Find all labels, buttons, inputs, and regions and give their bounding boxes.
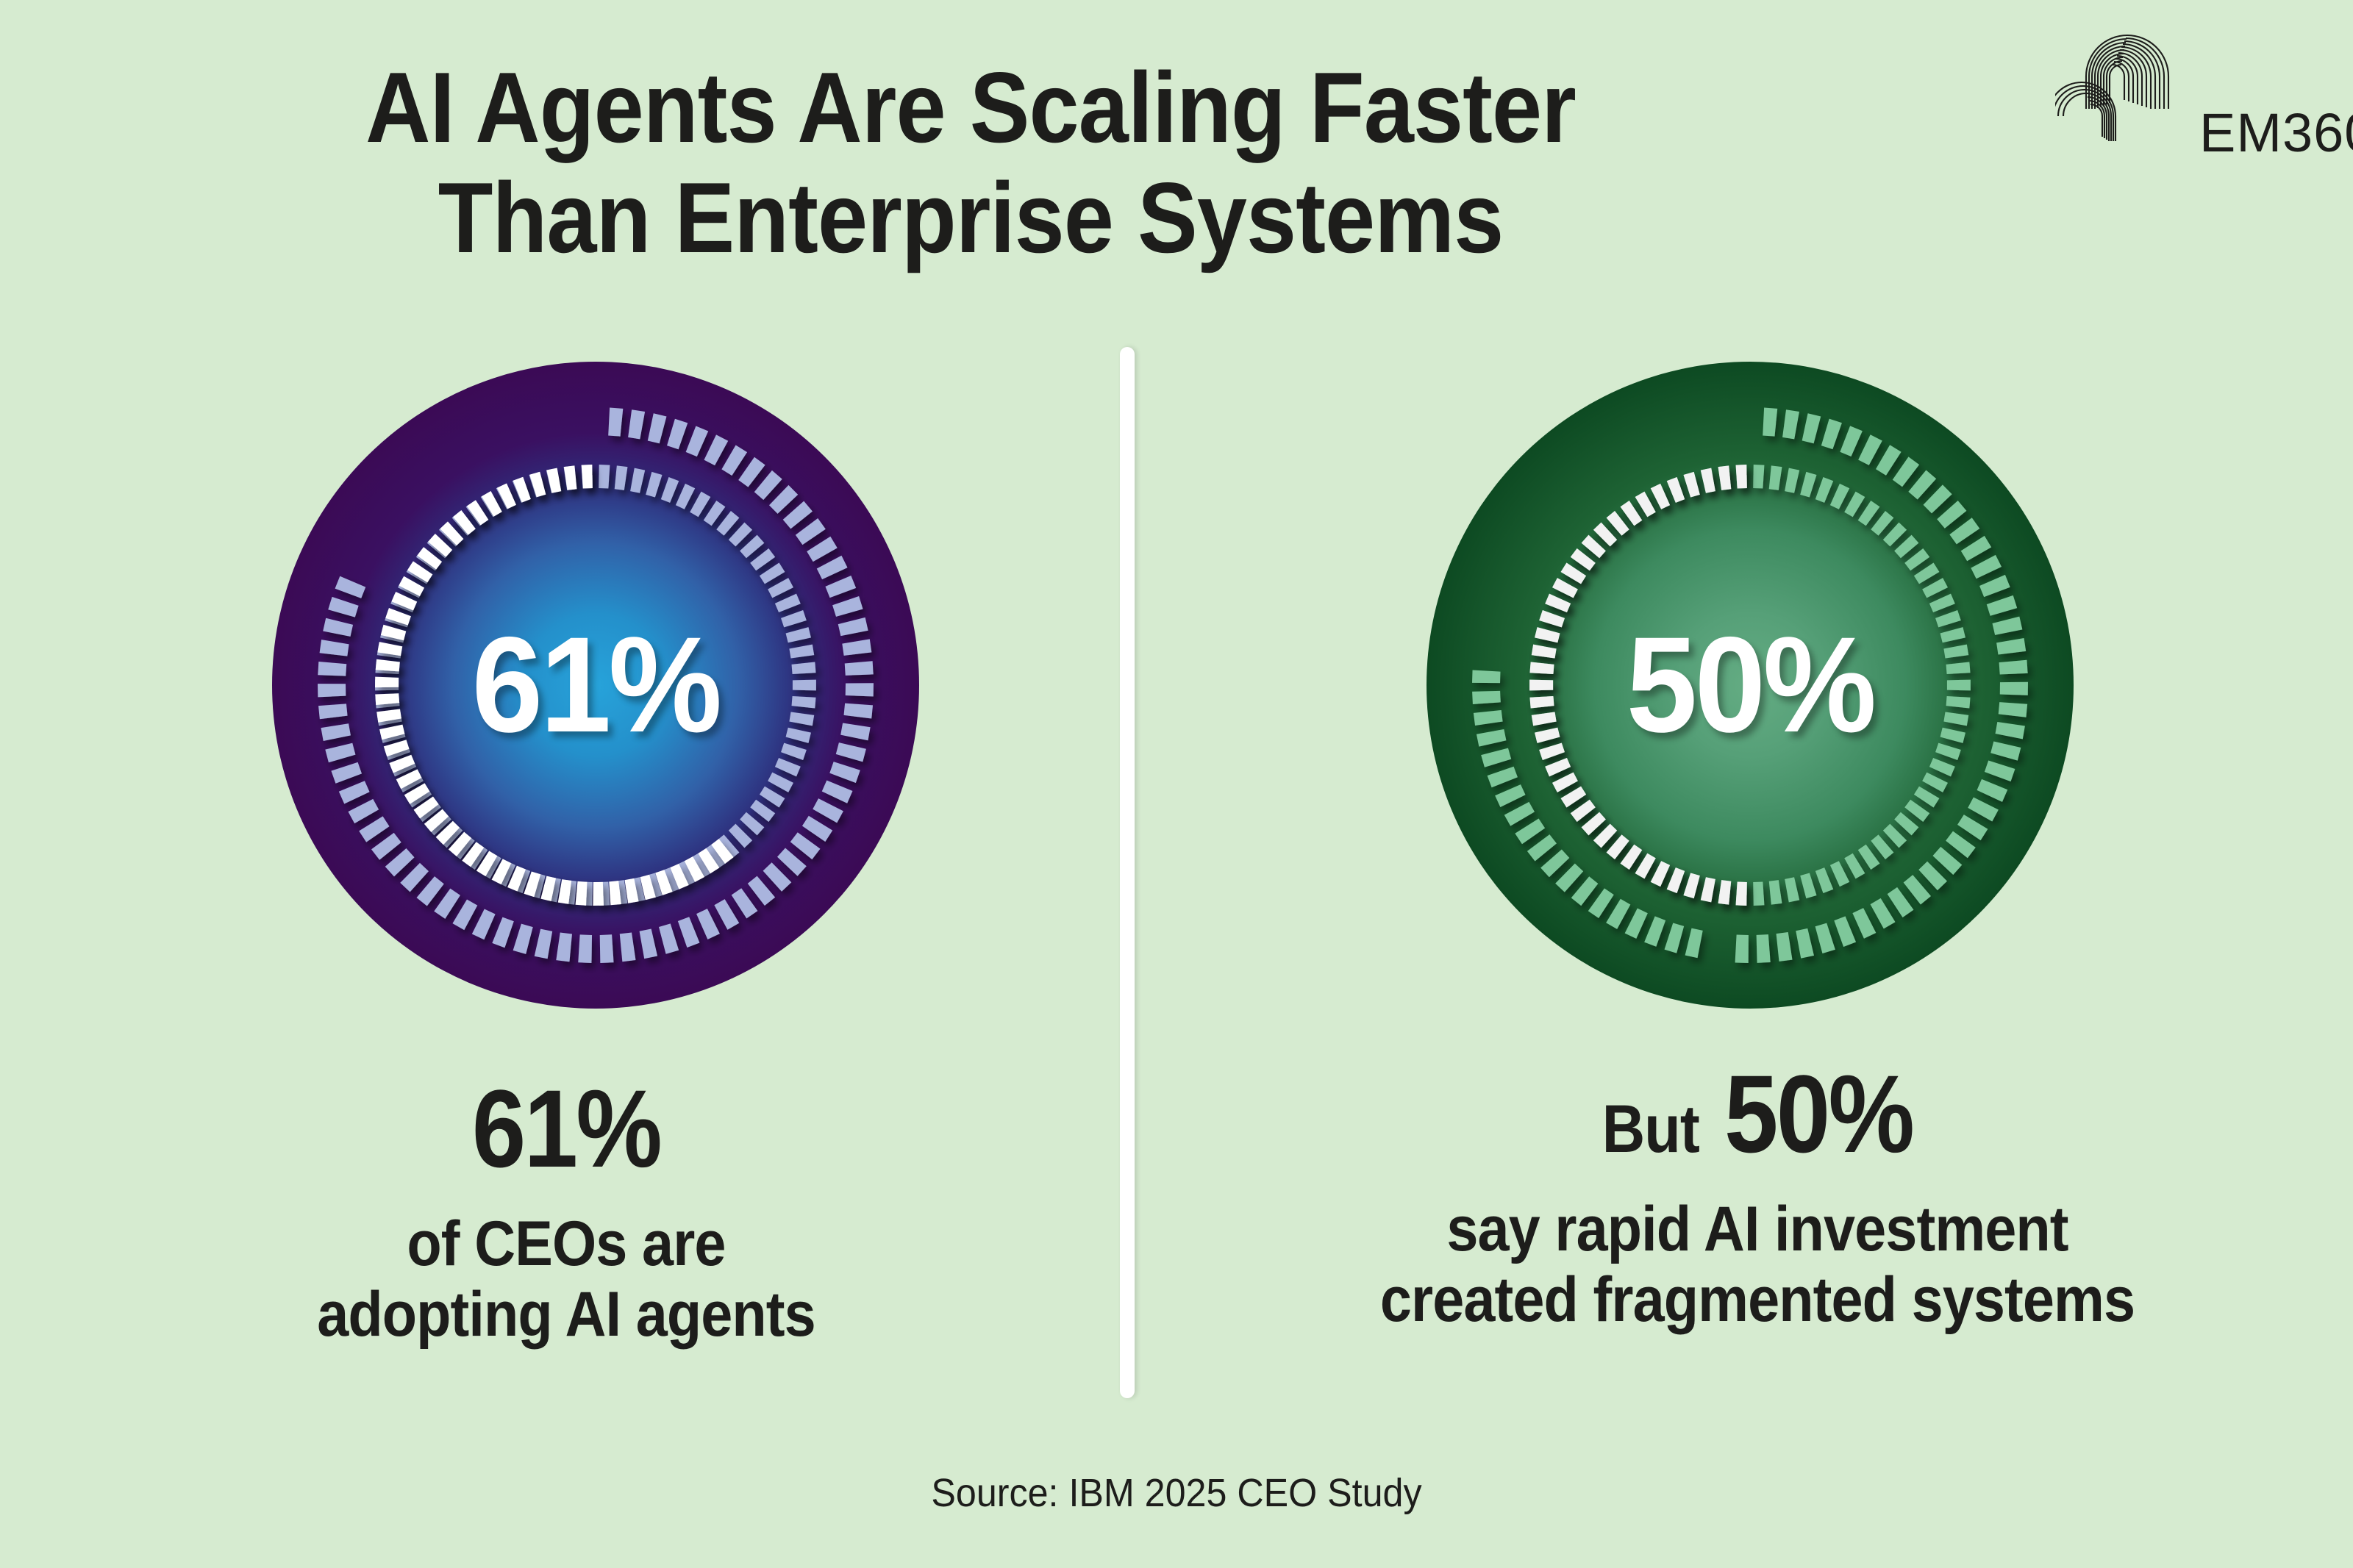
caption-right: But 50% say rapid AI investment created … — [1206, 1059, 2309, 1336]
page-title-line-2: Than Enterprise Systems — [97, 163, 1844, 273]
gauge-right: 50% — [1427, 362, 2074, 1009]
caption-right-sub: say rapid AI investment created fragment… — [1261, 1194, 2254, 1336]
vertical-divider — [1120, 347, 1135, 1398]
em360-brain-mark — [2055, 15, 2202, 162]
caption-left-sub-line-1: of CEOs are — [407, 1209, 725, 1279]
em360-wordmark: EM360 — [2199, 101, 2353, 164]
caption-left-sub: of CEOs are adopting AI agents — [103, 1209, 1029, 1350]
caption-left-percent: 61% — [472, 1067, 660, 1190]
caption-right-sub-line-2: created fragmented systems — [1380, 1264, 2135, 1335]
caption-left-big: 61% — [113, 1073, 1019, 1184]
page-title-line-1: AI Agents Are Scaling Faster — [97, 53, 1844, 163]
caption-right-percent: 50% — [1724, 1052, 1913, 1175]
caption-left: 61% of CEOs are adopting AI agents — [51, 1073, 1081, 1350]
gauge-left-value: 61% — [291, 362, 899, 1009]
gauge-left: 61% — [272, 362, 919, 1009]
caption-left-sub-line-2: adopting AI agents — [317, 1279, 815, 1350]
caption-right-sub-line-1: say rapid AI investment — [1446, 1194, 2068, 1264]
caption-right-big: But 50% — [1272, 1059, 2243, 1169]
em360-logo: EM360 — [2055, 15, 2335, 173]
infographic-canvas: AI Agents Are Scaling Faster Than Enterp… — [0, 0, 2353, 1568]
source-note: Source: IBM 2025 CEO Study — [82, 1470, 2271, 1516]
page-title: AI Agents Are Scaling Faster Than Enterp… — [97, 53, 1844, 273]
caption-right-lead: But — [1602, 1092, 1699, 1167]
gauge-right-value: 50% — [1446, 362, 2054, 1009]
